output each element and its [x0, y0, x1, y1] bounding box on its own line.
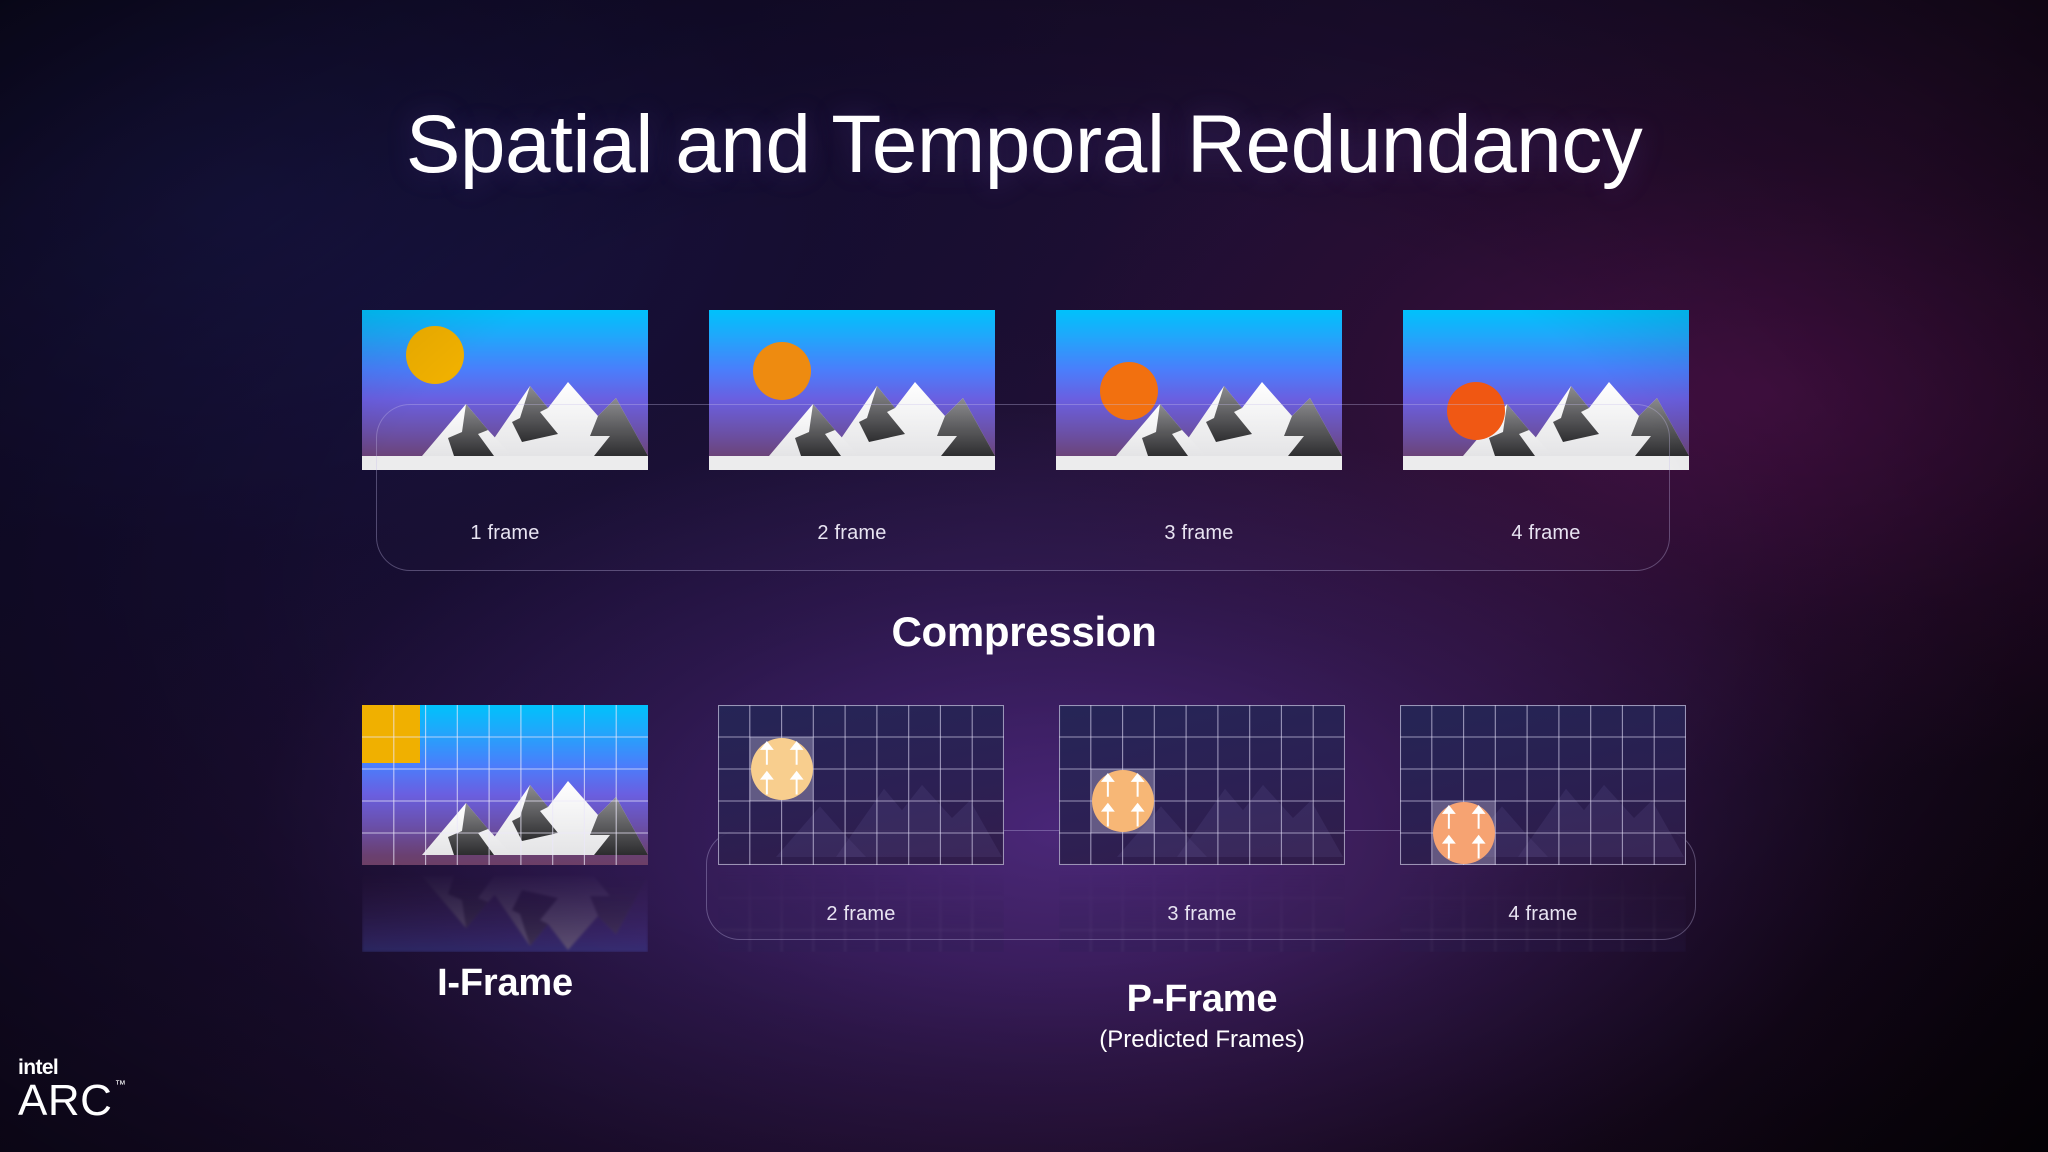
arc-wordmark: ARC ™: [18, 1078, 112, 1124]
trademark-symbol: ™: [115, 1080, 127, 1092]
compressed-pframe-2[interactable]: 2 frame: [718, 705, 1004, 865]
frame-label: 4 frame: [1400, 903, 1686, 926]
arc-wordmark-text: ARC: [18, 1076, 112, 1125]
motion-block: [1432, 801, 1496, 865]
sun-icon: [753, 342, 811, 400]
mountain-graphic: [362, 876, 648, 952]
motion-vector-arrows: [1091, 769, 1155, 833]
pframe-photo: [718, 705, 1004, 865]
motion-vector-arrows: [1432, 801, 1496, 865]
compressed-iframe[interactable]: [362, 705, 648, 865]
iframe-photo: [362, 705, 648, 865]
pframe-caption: P-Frame: [1059, 978, 1345, 1021]
motion-vector-arrows: [750, 737, 814, 801]
iframe-caption: I-Frame: [362, 962, 648, 1005]
compression-label: Compression: [0, 608, 2048, 656]
pframe-subcaption: (Predicted Frames): [1009, 1026, 1395, 1054]
compressed-pframe-4[interactable]: 4 frame: [1400, 705, 1686, 865]
frame-label: 2 frame: [718, 903, 1004, 926]
compressed-pframe-3[interactable]: 3 frame: [1059, 705, 1345, 865]
macroblock-grid: [362, 705, 648, 865]
sun-icon: [406, 326, 464, 384]
source-frame-strip: [376, 404, 1670, 571]
motion-block: [750, 737, 814, 801]
pframe-photo: [1059, 705, 1345, 865]
frame-label: 3 frame: [1059, 903, 1345, 926]
slide-canvas: Spatial and Temporal Redundancy: [0, 0, 2048, 1152]
page-title: Spatial and Temporal Redundancy: [0, 100, 2048, 190]
intel-arc-logo: intel ARC ™: [18, 1057, 112, 1124]
motion-block: [1091, 769, 1155, 833]
pframe-photo: [1400, 705, 1686, 865]
intel-wordmark: intel: [18, 1057, 112, 1078]
iframe-reflection: [362, 866, 648, 952]
